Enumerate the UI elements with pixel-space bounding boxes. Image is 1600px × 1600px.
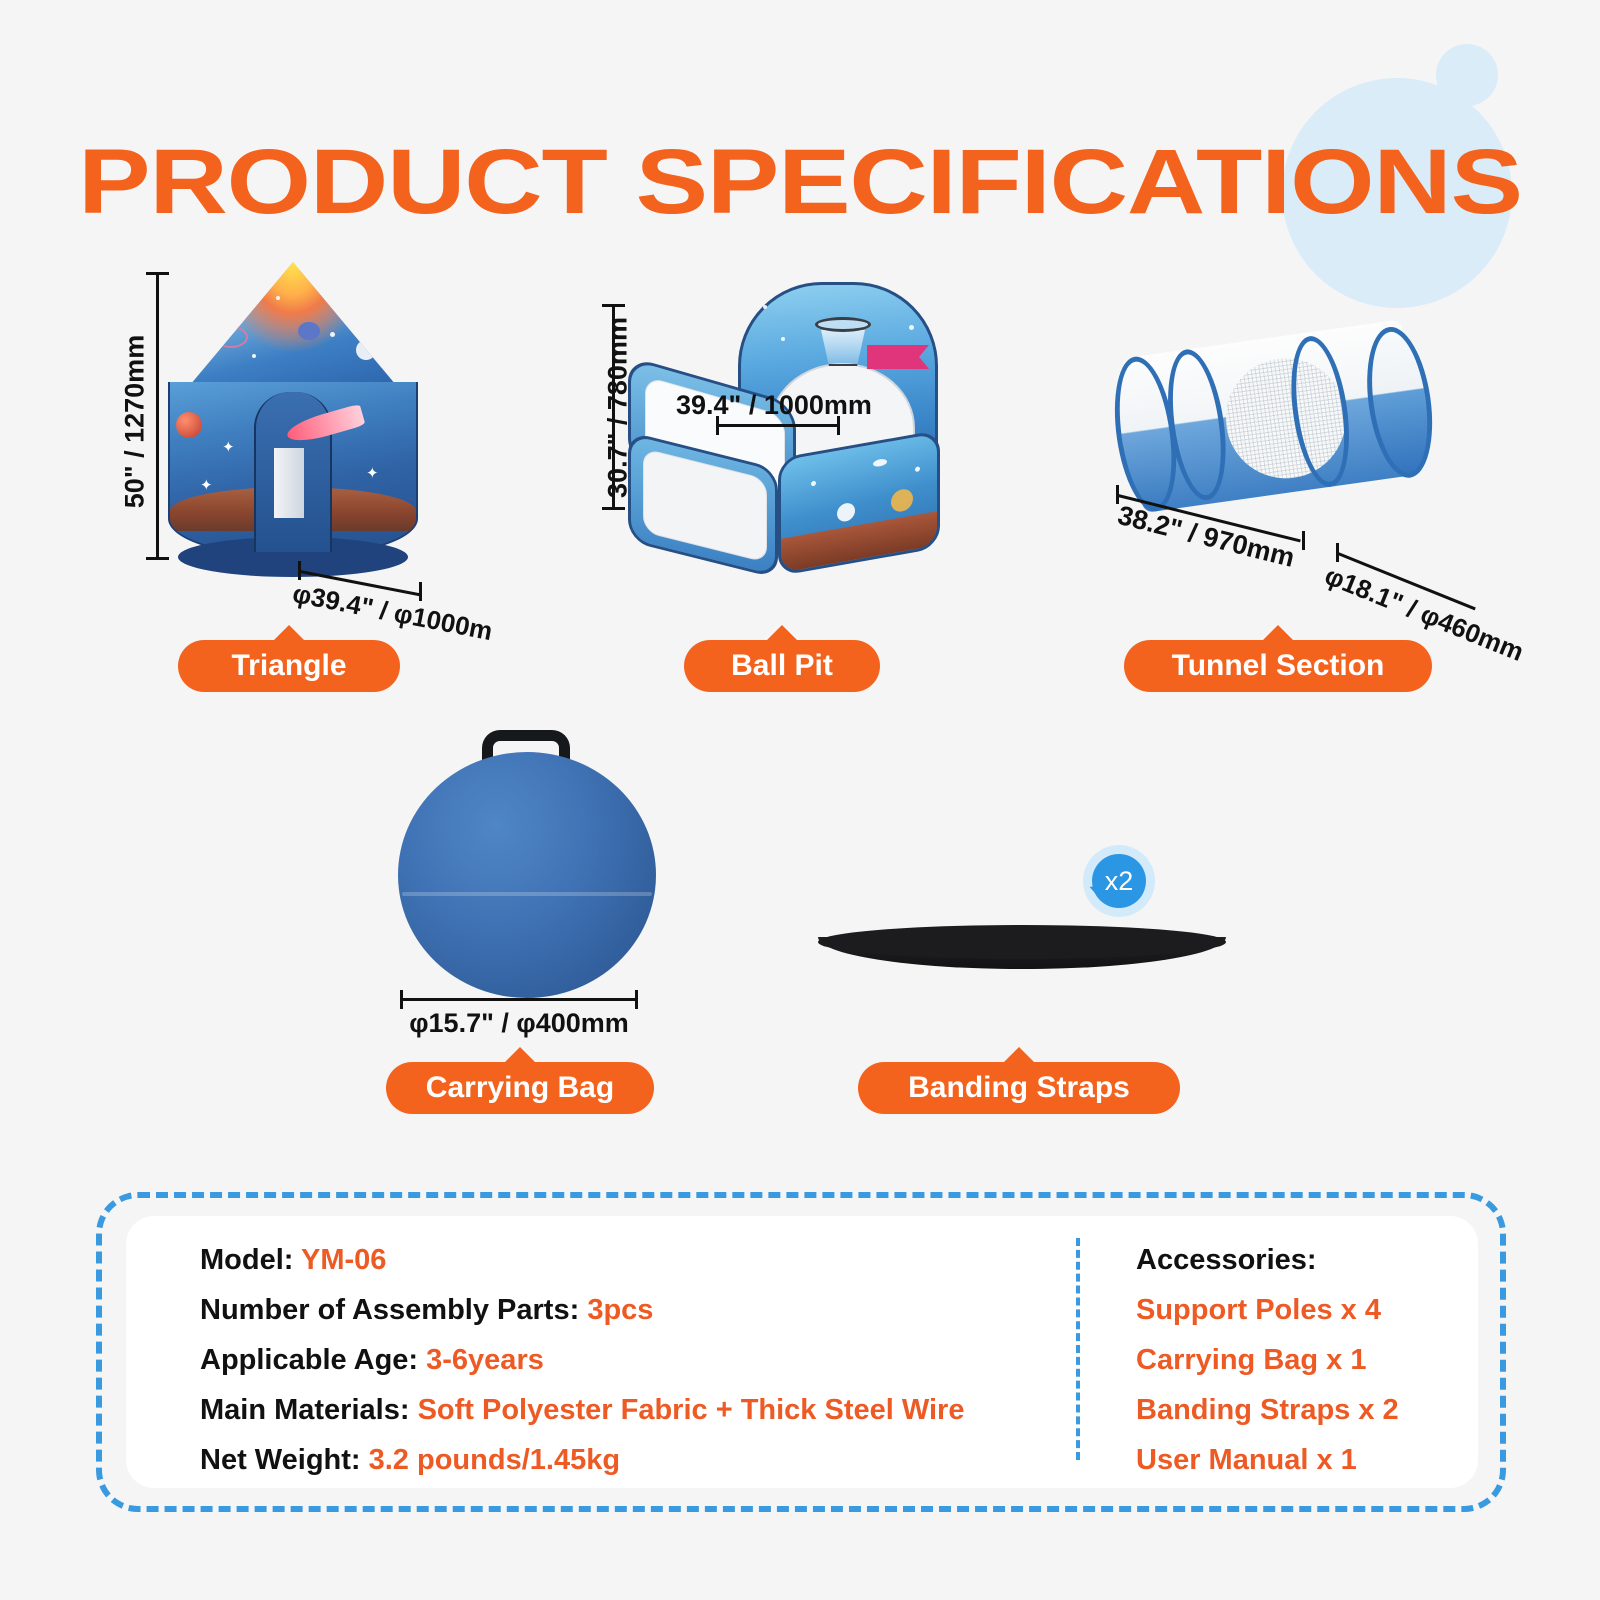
tunnel-length-tick-right (1302, 531, 1305, 550)
accessory-item: User Manual x 1 (1136, 1444, 1399, 1477)
accessories-title: Accessories: (1136, 1244, 1399, 1277)
quantity-badge-x2: x2 (1083, 845, 1155, 917)
ballpit-front-left-mesh (643, 448, 767, 563)
spec-row-net-weight: Net Weight: 3.2 pounds/1.45kg (200, 1444, 1090, 1477)
spec-label: Model: (200, 1244, 293, 1276)
tent-diameter-tick-left (298, 561, 301, 580)
spec-value: Soft Polyester Fabric + Thick Steel Wire (418, 1394, 965, 1426)
strap-top-ring (818, 925, 1226, 959)
tent-planet-graphic (176, 412, 202, 438)
spec-row-main-materials: Main Materials: Soft Polyester Fabric + … (200, 1394, 1090, 1427)
badge-label: Banding Straps (908, 1071, 1130, 1105)
spec-row-applicable-age: Applicable Age: 3-6years (200, 1344, 1090, 1377)
bag-diameter-label: φ15.7" / φ400mm (400, 1008, 638, 1039)
badge-pointer-icon (272, 625, 306, 642)
bag-diameter-tick-right (635, 990, 638, 1009)
product-image-triangle-tent: ✦ ✦ ✦ ✦ (168, 262, 418, 574)
spec-label: Number of Assembly Parts: (200, 1294, 579, 1326)
spec-label: Main Materials: (200, 1394, 410, 1426)
badge-pointer-icon (1002, 1047, 1036, 1064)
tent-tower-graphic (274, 448, 304, 518)
badge-label: Carrying Bag (426, 1071, 614, 1105)
page-title: PRODUCT SPECIFICATIONS (0, 130, 1600, 235)
spec-panel-divider (1076, 1238, 1080, 1460)
product-badge-triangle[interactable]: Triangle (178, 640, 400, 692)
badge-label: Ball Pit (731, 649, 833, 683)
spec-label: Applicable Age: (200, 1344, 418, 1376)
spec-row-model: Model: YM-06 (200, 1244, 1090, 1277)
product-badge-carrying-bag[interactable]: Carrying Bag (386, 1062, 654, 1114)
product-image-carrying-bag (398, 730, 656, 998)
ballpit-flag-graphic (867, 345, 929, 369)
product-badge-ball-pit[interactable]: Ball Pit (684, 640, 880, 692)
badge-pointer-icon (1261, 625, 1295, 642)
basketball-hoop-icon (815, 317, 871, 332)
tunnel-diameter-tick-left (1336, 543, 1339, 562)
badge-label: Tunnel Section (1172, 649, 1385, 683)
ballpit-height-label: 30.7" / 780mm (603, 268, 634, 548)
badge-pointer-icon (503, 1047, 537, 1064)
spec-panel-card: Model: YM-06 Number of Assembly Parts: 3… (126, 1216, 1478, 1488)
decorative-circle-small (1436, 44, 1498, 106)
spec-row-assembly-parts: Number of Assembly Parts: 3pcs (200, 1294, 1090, 1327)
bag-diameter-line (400, 998, 638, 1001)
spec-value: YM-06 (301, 1244, 386, 1276)
tent-height-line (156, 272, 159, 560)
product-image-banding-straps (818, 925, 1226, 981)
spec-value: 3.2 pounds/1.45kg (369, 1444, 620, 1476)
badge-pointer-icon (765, 625, 799, 642)
product-badge-tunnel-section[interactable]: Tunnel Section (1124, 640, 1432, 692)
bag-body (398, 752, 656, 998)
ballpit-width-line (716, 424, 840, 427)
product-image-ball-pit (628, 282, 940, 574)
tent-roof (180, 262, 406, 397)
tent-height-label: 50" / 1270mm (120, 282, 151, 562)
ballpit-width-label: 39.4" / 1000mm (676, 390, 872, 421)
tent-height-tick-top (146, 272, 169, 275)
bag-diameter-tick-left (400, 990, 403, 1009)
accessory-item: Banding Straps x 2 (1136, 1394, 1399, 1427)
ballpit-hoop-net (821, 330, 865, 366)
accessory-item: Carrying Bag x 1 (1136, 1344, 1399, 1377)
accessory-item: Support Poles x 4 (1136, 1294, 1399, 1327)
bag-seam (402, 892, 652, 896)
product-badge-banding-straps[interactable]: Banding Straps (858, 1062, 1180, 1114)
badge-label: Triangle (231, 649, 346, 683)
x2-bubble: x2 (1092, 854, 1146, 908)
tent-diameter-tick-right (419, 582, 422, 601)
spec-value: 3-6years (426, 1344, 544, 1376)
spec-label: Net Weight: (200, 1444, 361, 1476)
x2-label: x2 (1105, 866, 1134, 897)
spec-value: 3pcs (587, 1294, 653, 1326)
spec-list: Model: YM-06 Number of Assembly Parts: 3… (200, 1244, 1090, 1494)
tunnel-length-tick-left (1116, 485, 1119, 504)
accessories-list: Accessories: Support Poles x 4 Carrying … (1136, 1244, 1399, 1494)
